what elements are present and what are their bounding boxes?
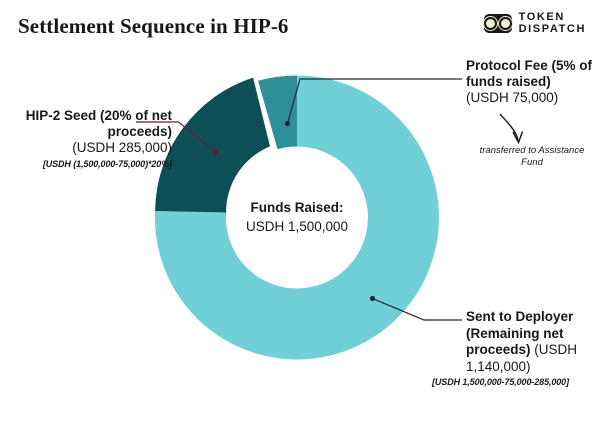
page-title: Settlement Sequence in HIP-6 xyxy=(18,14,289,39)
annotation-protocol-fee-head: Protocol Fee (5% of funds raised) xyxy=(466,58,596,90)
annotation-sent-deployer-head: Sent to Deployer (Remaining net proceeds… xyxy=(466,309,600,375)
annotation-protocol-fee-amount: (USDH 75,000) xyxy=(466,90,596,106)
donut-slice-protocol-fee xyxy=(258,75,297,149)
brand-wordmark: TOKEN DISPATCH xyxy=(519,12,586,35)
donut-center-label: Funds Raised: USDH 1,500,000 xyxy=(232,198,362,236)
annotation-hip2-seed: HIP-2 Seed (20% of net proceeds) (USDH 2… xyxy=(12,108,172,170)
center-title: Funds Raised: xyxy=(232,198,362,217)
brand-logo: TOKEN DISPATCH xyxy=(484,12,586,35)
goggles-icon xyxy=(484,14,512,33)
annotation-hip2-seed-amount: (USDH 285,000) xyxy=(12,140,172,156)
annotation-sent-deployer: Sent to Deployer (Remaining net proceeds… xyxy=(466,309,600,388)
center-value: USDH 1,500,000 xyxy=(232,217,362,236)
donut-slice-hip2-seed xyxy=(155,78,270,213)
annotation-hip2-seed-formula: [USDH (1,500,000-75,000)*20%] xyxy=(12,158,172,170)
annotation-hip2-seed-head: HIP-2 Seed (20% of net proceeds) xyxy=(12,108,172,140)
brand-line-2: DISPATCH xyxy=(519,24,586,36)
goggles-eye-right-icon xyxy=(499,17,512,30)
annotation-sent-deployer-formula: [USDH 1,500,000-75,000-285,000] xyxy=(432,376,600,388)
brand-line-1: TOKEN xyxy=(519,12,586,24)
leader-line-sent-deployer xyxy=(370,296,462,320)
annotation-protocol-fee: Protocol Fee (5% of funds raised) (USDH … xyxy=(466,58,596,106)
transfer-arrow-icon xyxy=(500,114,523,143)
leader-line-protocol-fee xyxy=(285,79,462,126)
goggles-eye-left-icon xyxy=(484,17,497,30)
annotation-transfer-note: transferred to Assistance Fund xyxy=(472,145,592,169)
